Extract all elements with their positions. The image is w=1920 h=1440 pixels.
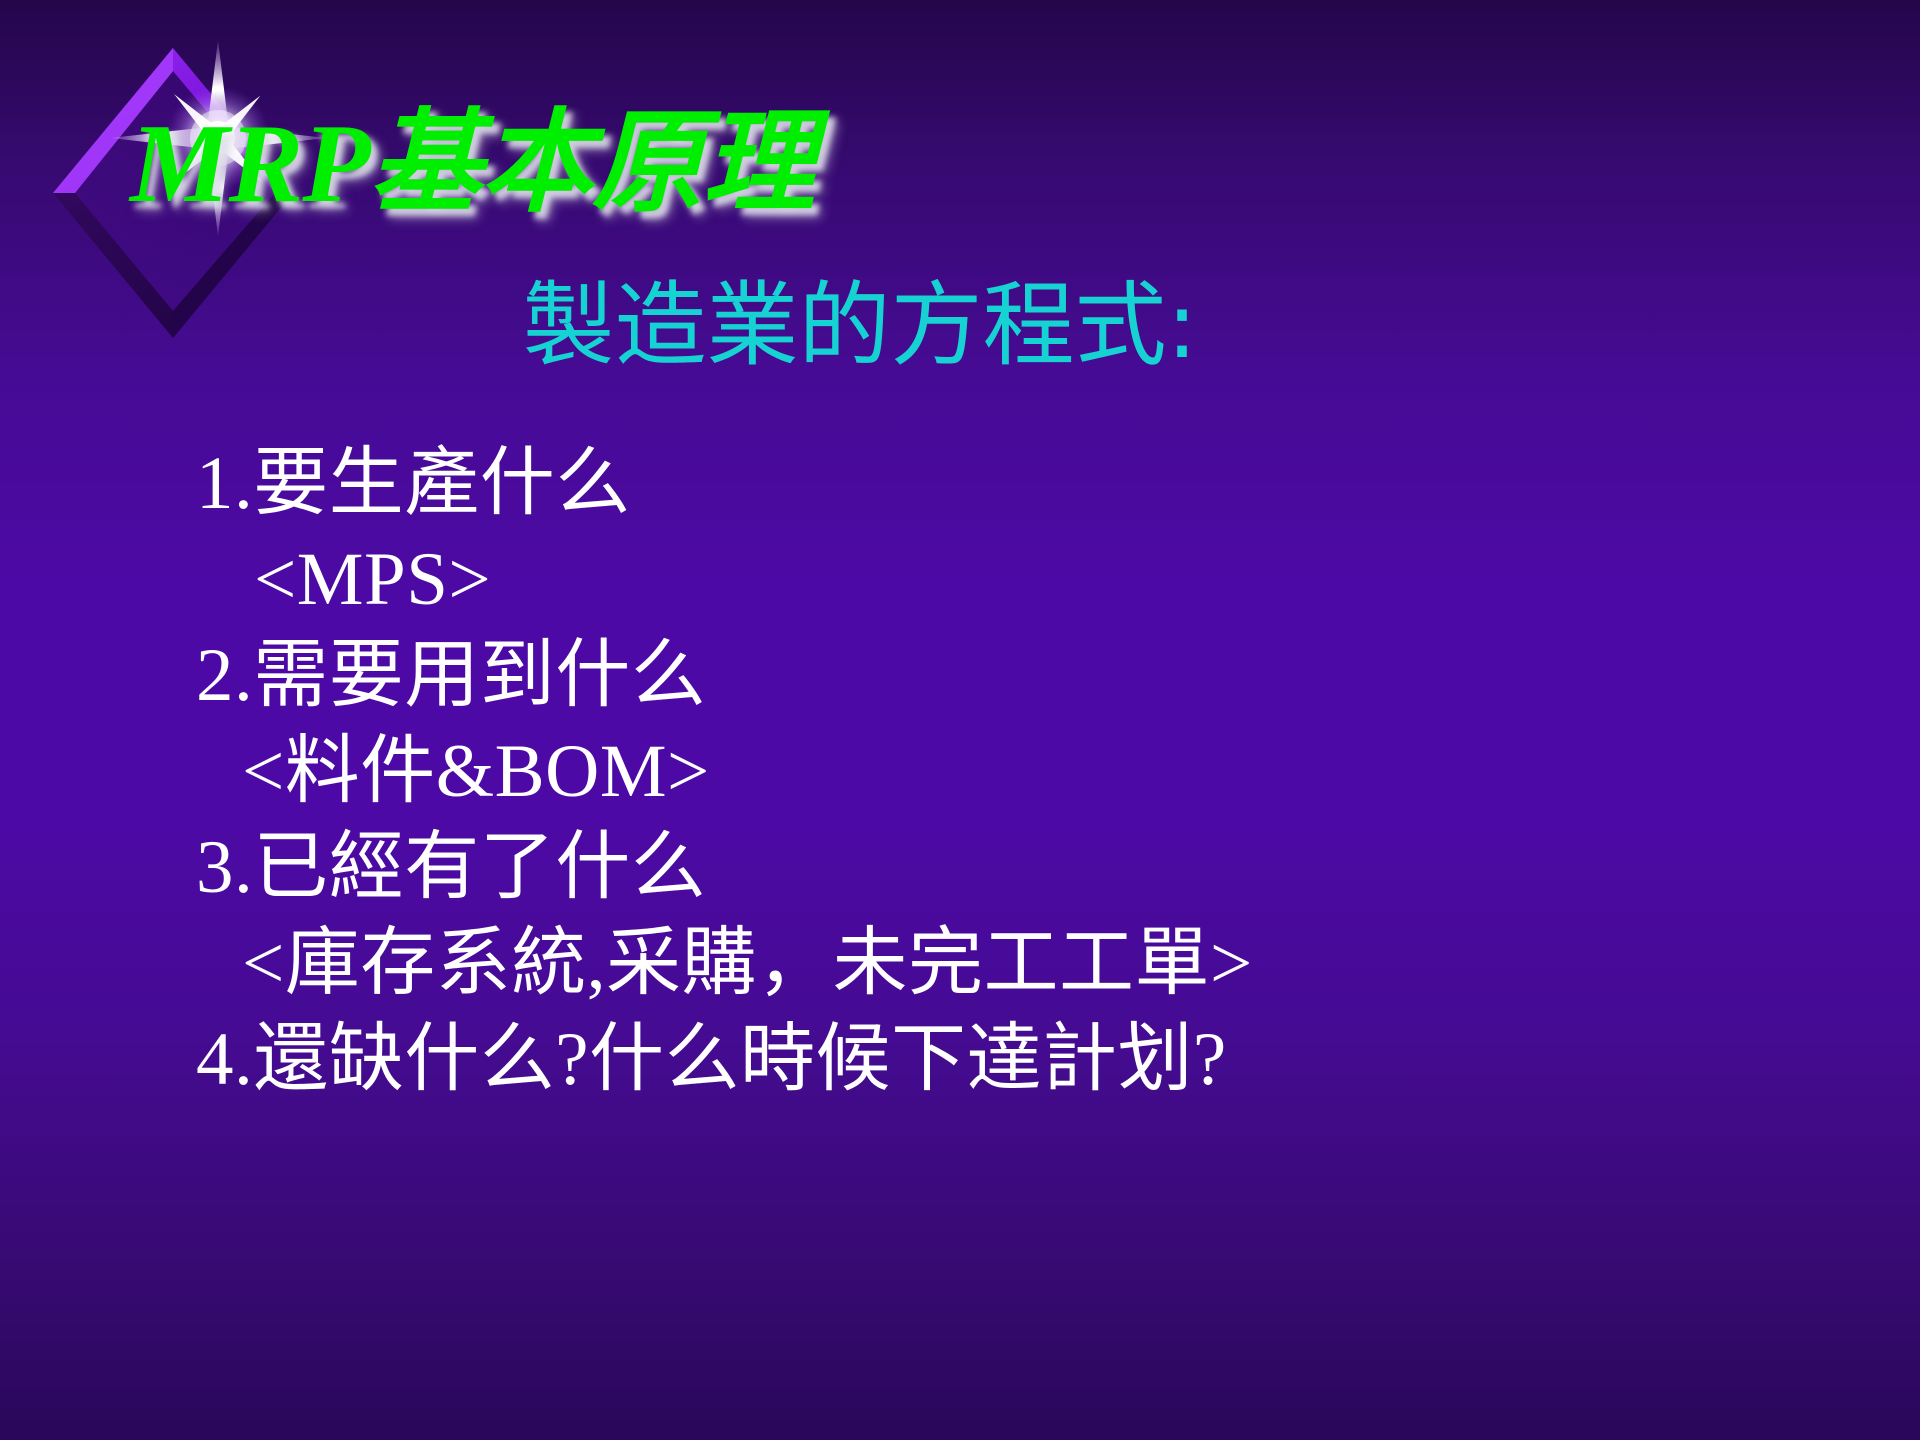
body-line-3: 2.需要用到什么	[196, 628, 1836, 724]
body-line-7: 4.還缺什么?什么時候下達計划?	[196, 1012, 1836, 1108]
slide-canvas: MRP基本原理 製造業的方程式: 1.要生產什么 <MPS> 2.需要用到什么 …	[0, 0, 1920, 1440]
slide-body-list: 1.要生產什么 <MPS> 2.需要用到什么 <料件&BOM> 3.已經有了什么…	[196, 436, 1836, 1108]
slide-title: MRP基本原理	[130, 108, 814, 220]
body-line-1: 1.要生產什么	[196, 436, 1836, 532]
body-line-6: <庫存系統,采購，未完工工單>	[196, 916, 1836, 1012]
body-line-2: <MPS>	[196, 532, 1836, 628]
body-line-5: 3.已經有了什么	[196, 820, 1836, 916]
body-line-4: <料件&BOM>	[196, 724, 1836, 820]
slide-subtitle: 製造業的方程式:	[0, 278, 1920, 375]
